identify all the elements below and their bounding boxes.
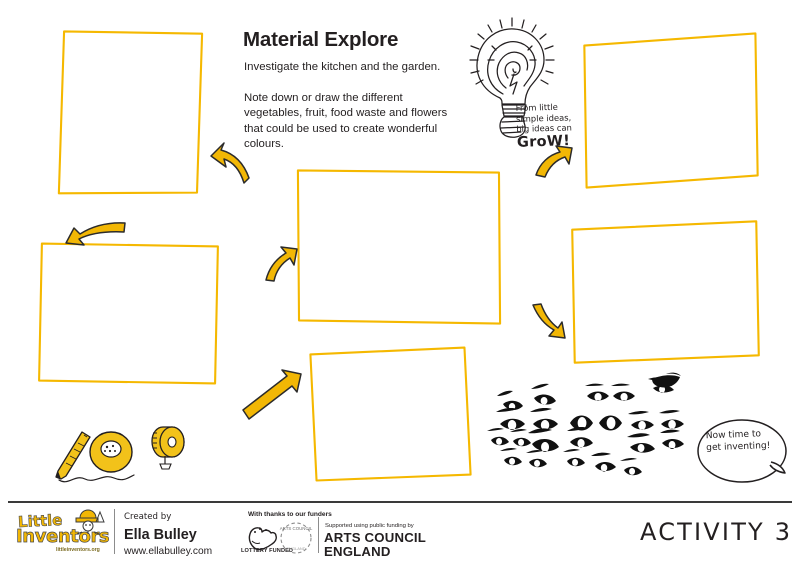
ace-line-2: ENGLAND bbox=[324, 544, 391, 559]
author-url[interactable]: www.ellabulley.com bbox=[124, 546, 212, 557]
box-center[interactable] bbox=[297, 168, 501, 327]
author-name: Ella Bulley bbox=[124, 527, 197, 543]
footer-divider bbox=[8, 501, 792, 503]
eyes-cluster-icon bbox=[487, 373, 684, 476]
sponge-doodle bbox=[90, 432, 132, 472]
ace-supported-label: Supported using public funding by bbox=[325, 523, 414, 529]
arts-council-circle-icon: ARTS COUNCIL ENGLAND bbox=[274, 519, 318, 559]
box-top-left[interactable] bbox=[58, 28, 203, 198]
arrow-to-center bbox=[266, 247, 297, 281]
lightbulb-shout: GroW! bbox=[517, 133, 571, 151]
page-title: Material Explore bbox=[243, 28, 398, 52]
svg-text:ENGLAND: ENGLAND bbox=[286, 546, 305, 551]
ace-line-1: ARTS COUNCIL bbox=[324, 530, 426, 545]
logo-character-icon bbox=[68, 508, 108, 534]
box-center-lower[interactable] bbox=[310, 346, 472, 481]
worksheet-page: .hbox{fill:#ffffff;stroke:#f5b800;stroke… bbox=[0, 0, 800, 566]
box-mid-right[interactable] bbox=[572, 221, 759, 364]
logo-url: littleinventors.org bbox=[56, 547, 100, 553]
page-lead: Investigate the kitchen and the garden. bbox=[244, 61, 440, 73]
activity-label: ACTIVITY 3 bbox=[640, 518, 792, 546]
footer-divider-funder bbox=[318, 517, 319, 553]
lightbulb-caption: From little simple ideas, big ideas can bbox=[516, 101, 585, 135]
funders-thanks: With thanks to our funders bbox=[248, 511, 332, 518]
arrow-to-top-right bbox=[536, 146, 572, 177]
svg-text:ARTS COUNCIL: ARTS COUNCIL bbox=[280, 526, 313, 531]
box-top-right[interactable] bbox=[584, 33, 759, 189]
arrow-to-center-lower bbox=[243, 370, 301, 419]
arrow-to-mid-right bbox=[533, 304, 565, 338]
tape-measure-doodle bbox=[152, 427, 184, 469]
little-inventors-logo[interactable]: Little Inventors littleinventors.org bbox=[16, 510, 110, 554]
footer-divider-created bbox=[114, 509, 115, 554]
arrow-to-mid-left bbox=[66, 223, 125, 245]
page-body: Note down or draw the different vegetabl… bbox=[244, 91, 459, 153]
artwork-layer: .hbox{fill:#ffffff;stroke:#f5b800;stroke… bbox=[0, 0, 800, 566]
created-by-label: Created by bbox=[124, 512, 171, 522]
box-mid-left[interactable] bbox=[38, 242, 219, 386]
speech-bubble-text: Now time to get inventing! bbox=[706, 428, 779, 455]
